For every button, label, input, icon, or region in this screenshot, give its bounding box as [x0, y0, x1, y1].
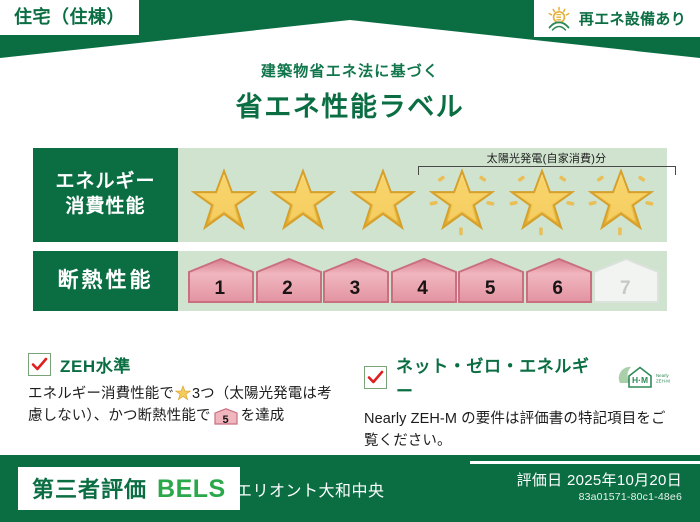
net-zero-energy-description: Nearly ZEH-M の要件は評価書の特記項目をご覧ください。: [364, 408, 672, 453]
insulation-badge-strip: 1 2 3: [178, 251, 667, 311]
sparkle-rays-icon: [426, 164, 498, 236]
evaluation-id: 83a01571-80c1-48e6: [579, 491, 682, 503]
star-strip: [178, 160, 667, 240]
zeh-m-logo-caption1: Nearly: [656, 373, 669, 378]
net-zero-energy-checkbox[interactable]: [364, 366, 387, 389]
star-6: [585, 164, 657, 236]
energy-label-line1: エネルギー: [55, 170, 155, 195]
insulation-level-value: 1: [215, 278, 226, 300]
insulation-level-value: 2: [282, 278, 293, 300]
star-icon: [270, 167, 336, 233]
zeh-desc-part1: エネルギー消費性能で: [28, 386, 174, 402]
star-icon: [350, 167, 416, 233]
zeh-section: ZEH水準 エネルギー消費性能で3つ（太陽光発電は考慮しない）、かつ断熱性能で5…: [28, 352, 672, 453]
label-footer: 第三者評価 BELS エリオント大和中央 評価日 2025年10月20日 83a…: [0, 455, 700, 522]
zeh-m-logo-icon: H·M Nearly ZEH-M: [618, 363, 672, 391]
house-type-tag: 住宅（住棟）: [0, 0, 139, 35]
energy-label-line2: 消費性能: [65, 195, 145, 220]
zeh-standard-description: エネルギー消費性能で3つ（太陽光発電は考慮しない）、かつ断熱性能で5を達成: [28, 383, 346, 428]
insulation-level-value: 5: [485, 278, 496, 300]
net-zero-energy-block: ネット・ゼロ・エネルギー H·M Nearly ZEH-M Nearly ZEH…: [364, 352, 672, 453]
bels-en-label: BELS: [157, 475, 226, 504]
insulation-level-value: 3: [350, 278, 361, 300]
zeh-m-logo-caption2: ZEH-M: [656, 379, 670, 384]
net-zero-energy-title: ネット・ゼロ・エネルギー: [396, 352, 605, 402]
energy-performance-label: 住宅（住棟） 再エネ設備あり 建築物省エネ法に基づく 省エネ性能ラベル エネ: [0, 0, 700, 522]
insulation-level-2: 2: [254, 258, 322, 304]
check-icon: [367, 369, 384, 386]
label-subtitle: 建築物省エネ法に基づく: [0, 60, 700, 81]
renewable-badge-label: 再エネ設備あり: [579, 8, 686, 29]
evaluation-date-label: 評価日: [517, 472, 563, 489]
title-block: 建築物省エネ法に基づく 省エネ性能ラベル: [0, 60, 700, 124]
solar-sun-icon: [546, 6, 572, 32]
star-5: [506, 164, 578, 236]
insulation-level-5: 5: [456, 258, 524, 304]
sparkle-rays-icon: [585, 164, 657, 236]
inline-insulation-badge: 5: [214, 408, 238, 425]
bels-jp-label: 第三者評価: [32, 472, 147, 504]
evaluation-date-value: 2025年10月20日: [567, 472, 682, 489]
insulation-level-value: 4: [417, 278, 428, 300]
star-1: [188, 164, 260, 236]
insulation-level-6: 6: [524, 258, 592, 304]
insulation-performance-label-box: 断熱性能: [33, 251, 178, 311]
insulation-level-4: 4: [389, 258, 457, 304]
inline-star-icon: [175, 385, 191, 401]
insulation-performance-row: 断熱性能 1: [33, 251, 667, 311]
sparkle-rays-icon: [506, 164, 578, 236]
zeh-m-logo-house-text: H·M: [632, 375, 648, 385]
insulation-level-value: 6: [552, 278, 563, 300]
zeh-standard-title: ZEH水準: [60, 352, 131, 377]
check-icon: [31, 356, 48, 373]
zeh-desc-star-count: 3つ（太陽光発電: [192, 386, 302, 402]
net-zero-energy-header: ネット・ゼロ・エネルギー H·M Nearly ZEH-M: [364, 352, 672, 402]
label-title: 省エネ性能ラベル: [0, 85, 700, 124]
evaluation-date: 評価日 2025年10月20日: [517, 469, 682, 490]
insulation-level-3: 3: [321, 258, 389, 304]
renewable-equipment-badge: 再エネ設備あり: [534, 0, 700, 37]
insulation-level-7: 7: [591, 258, 659, 304]
zeh-standard-checkbox[interactable]: [28, 353, 51, 376]
insulation-level-value: 7: [620, 278, 631, 300]
zeh-standard-block: ZEH水準 エネルギー消費性能で3つ（太陽光発電は考慮しない）、かつ断熱性能で5…: [28, 352, 346, 453]
zeh-desc-part3: を達成: [241, 408, 285, 424]
building-name: エリオント大和中央: [236, 477, 385, 501]
footer-divider: [470, 461, 700, 464]
energy-performance-label-box: エネルギー 消費性能: [33, 148, 178, 242]
insulation-badge-panel: 1 2 3: [178, 251, 667, 311]
rating-rows: エネルギー 消費性能 太陽光発電(自家消費)分: [33, 148, 667, 320]
star-3: [347, 164, 419, 236]
bels-logo-box: 第三者評価 BELS: [18, 467, 240, 510]
insulation-level-1: 1: [186, 258, 254, 304]
inline-badge-value: 5: [222, 414, 228, 426]
energy-star-panel: 太陽光発電(自家消費)分: [178, 148, 667, 242]
star-4: [426, 164, 498, 236]
star-icon: [191, 167, 257, 233]
energy-performance-row: エネルギー 消費性能 太陽光発電(自家消費)分: [33, 148, 667, 242]
zeh-standard-header: ZEH水準: [28, 352, 346, 377]
star-2: [267, 164, 339, 236]
